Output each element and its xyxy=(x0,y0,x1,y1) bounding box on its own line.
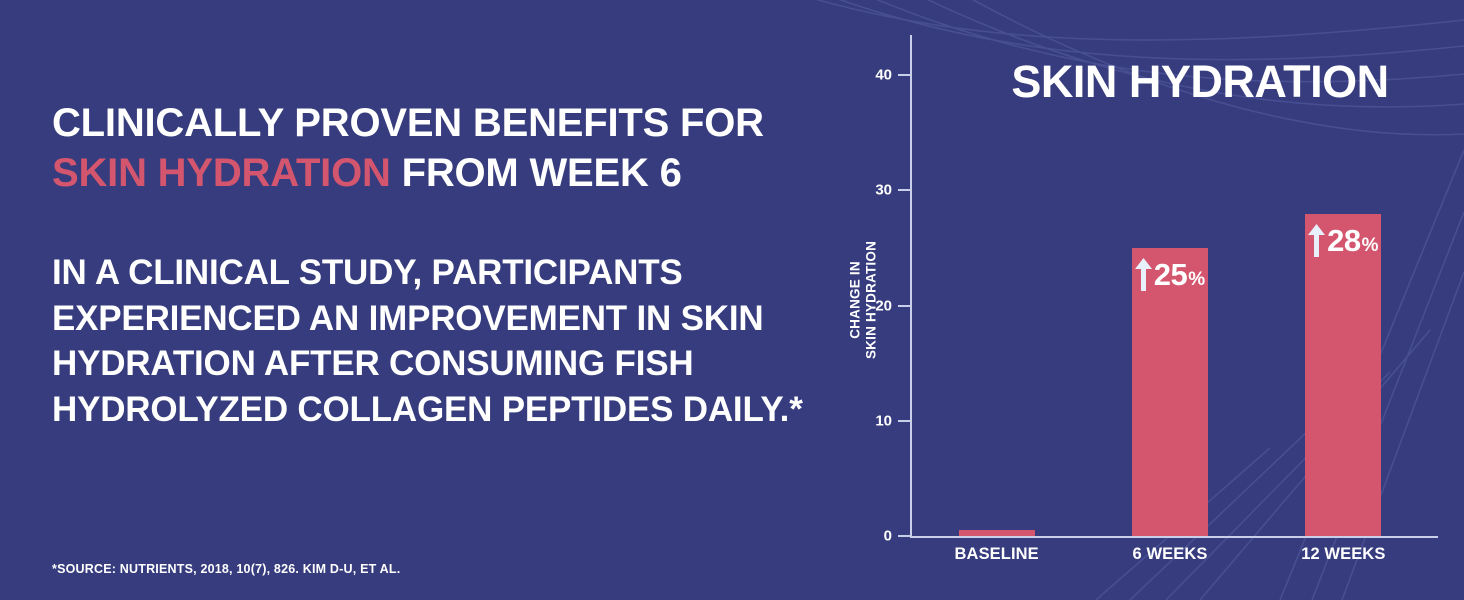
y-tick-mark xyxy=(898,189,910,191)
y-tick-label: 0 xyxy=(884,528,892,545)
y-tick-label: 10 xyxy=(875,412,892,429)
y-tick-mark xyxy=(898,305,910,307)
bar-value-label: 28% xyxy=(1305,224,1381,257)
bar[interactable]: 28% xyxy=(1305,214,1381,536)
body-copy: IN A CLINICAL STUDY, PARTICIPANTS EXPERI… xyxy=(52,250,812,432)
bar-group: BASELINE xyxy=(910,35,1083,538)
bar-value-number: 28 xyxy=(1327,225,1360,256)
y-tick-mark xyxy=(898,420,910,422)
headline-line-2-rest: FROM WEEK 6 xyxy=(391,151,682,195)
headline-line-1: CLINICALLY PROVEN BENEFITS FOR xyxy=(52,101,764,145)
headline: CLINICALLY PROVEN BENEFITS FORSKIN HYDRA… xyxy=(52,98,812,199)
x-category-label: 12 WEEKS xyxy=(1301,545,1385,564)
bar-group: 28%12 WEEKS xyxy=(1257,35,1430,538)
x-category-label: BASELINE xyxy=(955,545,1039,564)
x-category-label: 6 WEEKS xyxy=(1133,545,1208,564)
bar[interactable] xyxy=(959,530,1035,536)
up-arrow-icon xyxy=(1308,224,1325,257)
y-tick-label: 40 xyxy=(875,67,892,84)
up-arrow-icon xyxy=(1135,258,1152,291)
source-footnote: *SOURCE: NUTRIENTS, 2018, 10(7), 826. KI… xyxy=(52,562,400,576)
bar[interactable]: 25% xyxy=(1132,248,1208,536)
y-tick-label: 20 xyxy=(875,297,892,314)
bar-value-percent-sign: % xyxy=(1362,236,1379,257)
bar-group: 25%6 WEEKS xyxy=(1083,35,1256,538)
infographic-canvas: CLINICALLY PROVEN BENEFITS FORSKIN HYDRA… xyxy=(0,0,1464,600)
bar-value-number: 25 xyxy=(1154,259,1187,290)
plot-area: 010203040BASELINE25%6 WEEKS28%12 WEEKS xyxy=(910,35,1430,538)
headline-accent: SKIN HYDRATION xyxy=(52,151,391,195)
y-tick-mark xyxy=(898,74,910,76)
bar-value-percent-sign: % xyxy=(1188,270,1205,291)
copy-column: CLINICALLY PROVEN BENEFITS FORSKIN HYDRA… xyxy=(52,0,822,600)
chart-panel: SKIN HYDRATION CHANGE IN SKIN HYDRATION … xyxy=(810,0,1464,600)
y-axis-title: CHANGE IN SKIN HYDRATION xyxy=(847,205,878,395)
y-tick-mark xyxy=(898,535,910,537)
bar-value-label: 25% xyxy=(1132,258,1208,291)
y-tick-label: 30 xyxy=(875,182,892,199)
